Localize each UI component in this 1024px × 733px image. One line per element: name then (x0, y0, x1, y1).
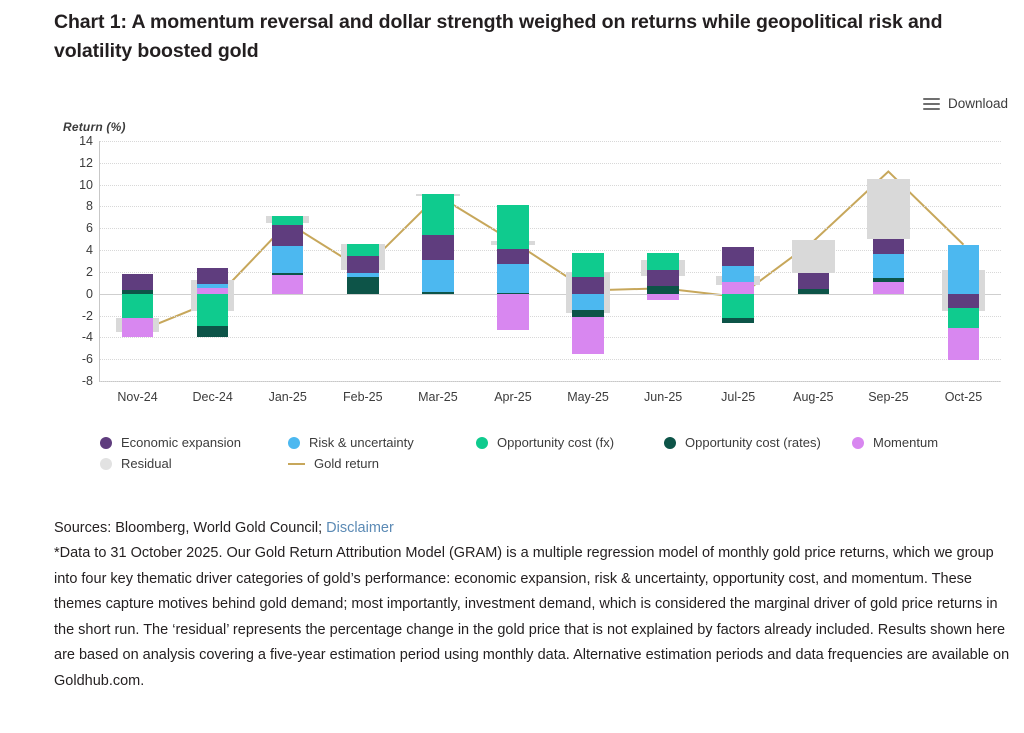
legend-label: Momentum (873, 435, 938, 450)
bar-group[interactable] (647, 141, 679, 381)
gridline (100, 163, 1001, 164)
zero-line (100, 294, 1001, 295)
y-axis-tick: -2 (82, 309, 93, 323)
bar-segment (948, 245, 980, 294)
x-axis-tick: Jun-25 (644, 390, 682, 404)
legend-dot-icon (288, 437, 300, 449)
bar-group[interactable] (948, 141, 980, 381)
x-axis-tick: Mar-25 (418, 390, 458, 404)
bar-segment (197, 326, 229, 337)
gridline (100, 381, 1001, 382)
legend-dot-icon (100, 437, 112, 449)
legend-label: Risk & uncertainty (309, 435, 414, 450)
bar-segment (197, 284, 229, 288)
bar-segment (497, 205, 529, 249)
bar-segment (347, 244, 379, 256)
chart-container: Return (%) 14121086420-2-4-6-8Nov-24Dec-… (54, 120, 1010, 415)
x-axis-tick: Feb-25 (343, 390, 383, 404)
legend-item[interactable]: Gold return (288, 456, 379, 471)
bar-segment (722, 266, 754, 281)
bar-segment (798, 289, 830, 293)
x-axis-tick: Apr-25 (494, 390, 532, 404)
bar-segment (647, 270, 679, 286)
x-axis-tick: Sep-25 (868, 390, 908, 404)
bar-segment (873, 282, 905, 294)
bar-group[interactable] (122, 141, 154, 381)
gridline (100, 316, 1001, 317)
bar-segment (948, 308, 980, 328)
bar-group[interactable] (873, 141, 905, 381)
gridline (100, 359, 1001, 360)
x-axis-tick: Oct-25 (945, 390, 983, 404)
bar-segment (347, 256, 379, 273)
bar-segment (422, 292, 454, 294)
legend-item[interactable]: Economic expansion (100, 435, 288, 450)
bar-segment (722, 294, 754, 318)
legend-dot-icon (476, 437, 488, 449)
disclaimer-link[interactable]: Disclaimer (326, 520, 394, 536)
legend-dot-icon (100, 458, 112, 470)
gridline (100, 250, 1001, 251)
bar-segment (122, 294, 154, 318)
hamburger-download-icon (923, 98, 940, 110)
bar-segment (948, 294, 980, 308)
legend-label: Opportunity cost (rates) (685, 435, 821, 450)
bar-segment (347, 273, 379, 277)
bar-group[interactable] (572, 141, 604, 381)
x-axis-tick: Nov-24 (117, 390, 157, 404)
gold-return-line (100, 141, 1001, 381)
bar-segment (272, 225, 304, 246)
legend-label: Gold return (314, 456, 379, 471)
bar-segment (422, 194, 454, 234)
bar-group[interactable] (722, 141, 754, 381)
bar-segment (497, 249, 529, 264)
plot-area: 14121086420-2-4-6-8Nov-24Dec-24Jan-25Feb… (99, 141, 1001, 382)
bar-segment (722, 247, 754, 267)
y-axis-tick: 4 (86, 243, 93, 257)
y-axis-tick: 10 (79, 178, 93, 192)
bar-group[interactable] (422, 141, 454, 381)
bar-segment (948, 328, 980, 361)
x-axis-tick: Aug-25 (793, 390, 833, 404)
bar-group[interactable] (272, 141, 304, 381)
legend-item[interactable]: Risk & uncertainty (288, 435, 476, 450)
bar-segment-residual (792, 240, 836, 273)
bar-segment (272, 246, 304, 273)
bar-segment (122, 274, 154, 290)
download-button[interactable]: Download (923, 96, 1008, 111)
gridline (100, 141, 1001, 142)
bar-segment (572, 294, 604, 310)
bar-segment (798, 273, 830, 289)
legend-row-primary: Economic expansionRisk & uncertaintyOppo… (100, 432, 1020, 453)
bar-segment (347, 277, 379, 293)
chart-page: Chart 1: A momentum reversal and dollar … (0, 0, 1024, 733)
legend-label: Opportunity cost (fx) (497, 435, 614, 450)
legend-label: Economic expansion (121, 435, 241, 450)
bar-segment (422, 260, 454, 292)
y-axis-tick: 14 (79, 134, 93, 148)
sources-text: Sources: Bloomberg, World Gold Council; (54, 520, 326, 536)
bar-segment (272, 275, 304, 294)
bar-segment (122, 318, 154, 338)
gridline (100, 337, 1001, 338)
bar-segment (873, 254, 905, 278)
bar-segment (572, 310, 604, 317)
bar-segment (272, 273, 304, 275)
y-axis-tick: -6 (82, 352, 93, 366)
page-title: Chart 1: A momentum reversal and dollar … (54, 8, 1004, 66)
bar-segment (197, 294, 229, 327)
sources-line: Sources: Bloomberg, World Gold Council; … (54, 516, 1012, 541)
bar-segment (272, 216, 304, 225)
bar-group[interactable] (197, 141, 229, 381)
legend-item[interactable]: Residual (100, 456, 288, 471)
bar-segment (722, 282, 754, 294)
y-axis-title: Return (%) (63, 120, 126, 134)
y-axis-tick: -4 (82, 330, 93, 344)
x-axis-tick: Dec-24 (192, 390, 232, 404)
y-axis-tick: -8 (82, 374, 93, 388)
bar-segment-residual (867, 179, 911, 239)
y-axis-tick: 12 (79, 156, 93, 170)
bar-segment (572, 253, 604, 277)
legend-label: Residual (121, 456, 172, 471)
bar-segment (647, 253, 679, 269)
legend-item[interactable]: Opportunity cost (rates) (664, 435, 852, 450)
legend-item[interactable]: Opportunity cost (fx) (476, 435, 664, 450)
y-axis-tick: 0 (86, 287, 93, 301)
bar-segment (422, 235, 454, 260)
bar-group[interactable] (798, 141, 830, 381)
bar-segment (647, 286, 679, 294)
bar-segment (572, 317, 604, 354)
download-label: Download (948, 96, 1008, 111)
y-axis-tick: 2 (86, 265, 93, 279)
bar-segment (197, 268, 229, 284)
legend-item[interactable]: Momentum (852, 435, 938, 450)
x-axis-tick: May-25 (567, 390, 609, 404)
bar-segment (873, 278, 905, 281)
legend-line-icon (288, 463, 305, 465)
legend-dot-icon (852, 437, 864, 449)
bar-segment (497, 294, 529, 330)
bar-segment (497, 264, 529, 292)
x-axis-tick: Jan-25 (269, 390, 307, 404)
bar-segment (572, 277, 604, 293)
bar-segment (873, 239, 905, 254)
legend-row-secondary: ResidualGold return (100, 453, 1020, 474)
footnote-text: *Data to 31 October 2025. Our Gold Retur… (54, 541, 1012, 694)
chart-legend: Economic expansionRisk & uncertaintyOppo… (100, 432, 1020, 474)
bar-segment (722, 318, 754, 323)
y-axis-tick: 8 (86, 199, 93, 213)
chart-footer: Sources: Bloomberg, World Gold Council; … (54, 516, 1012, 694)
y-axis-tick: 6 (86, 221, 93, 235)
legend-dot-icon (664, 437, 676, 449)
gridline (100, 272, 1001, 273)
bar-group[interactable] (347, 141, 379, 381)
bar-group[interactable] (497, 141, 529, 381)
x-axis-tick: Jul-25 (721, 390, 755, 404)
bar-segment (647, 294, 679, 301)
